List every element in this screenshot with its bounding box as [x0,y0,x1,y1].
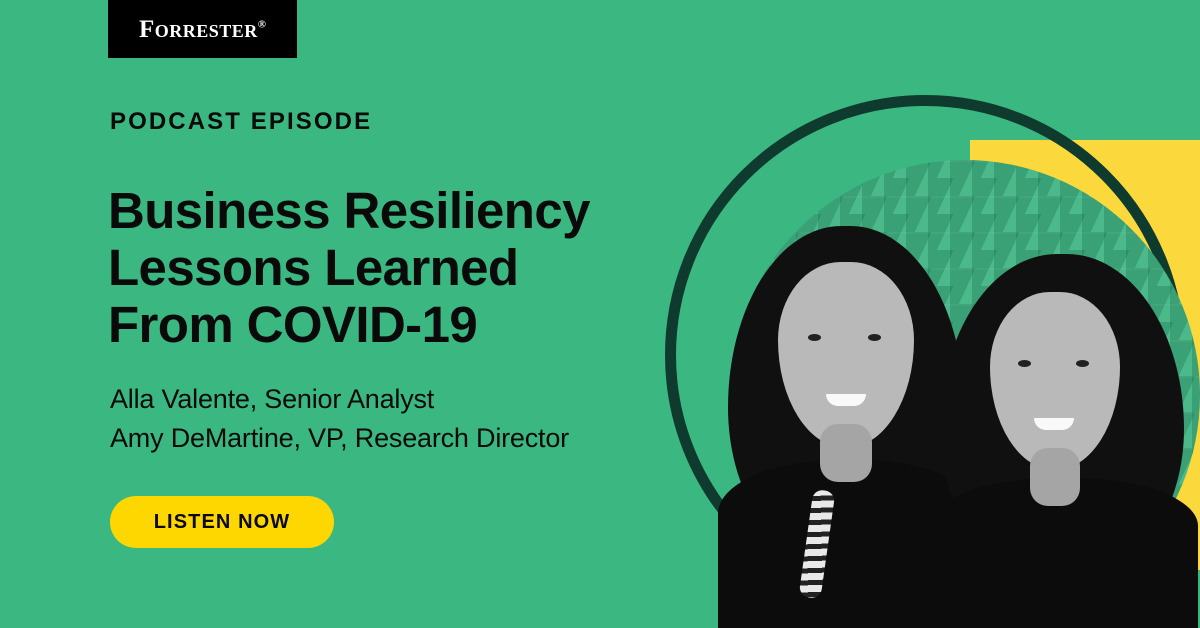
eye-right [868,334,881,341]
mouth [826,394,866,406]
listen-now-button[interactable]: LISTEN NOW [110,496,334,548]
eyebrow-label: PODCAST EPISODE [110,110,372,134]
decorative-artwork [640,0,1200,628]
logo-rest: orrester [155,16,258,43]
speaker-portrait-amy-demartine [930,228,1200,628]
registered-trademark-icon: ® [258,18,266,30]
headline-line-2: Lessons Learned [108,239,590,296]
mouth [1034,418,1074,430]
eye-right [1076,360,1089,367]
podcast-promo-banner: Forrester® PODCAST EPISODE Business Resi… [0,0,1200,628]
forrester-logo-text: Forrester® [139,17,266,42]
forrester-logo[interactable]: Forrester® [108,0,297,58]
speaker-1: Alla Valente, Senior Analyst [110,380,569,419]
neck [820,424,872,482]
headline-line-1: Business Resiliency [108,182,590,239]
speakers-photo [680,208,1200,628]
page-title: Business Resiliency Lessons Learned From… [108,182,590,353]
logo-first-letter: F [139,16,155,43]
speaker-2: Amy DeMartine, VP, Research Director [110,419,569,458]
headline-line-3: From COVID-19 [108,296,590,353]
neck [1030,448,1080,506]
speaker-list: Alla Valente, Senior Analyst Amy DeMarti… [110,380,569,458]
eye-left [1018,360,1031,367]
eye-left [808,334,821,341]
